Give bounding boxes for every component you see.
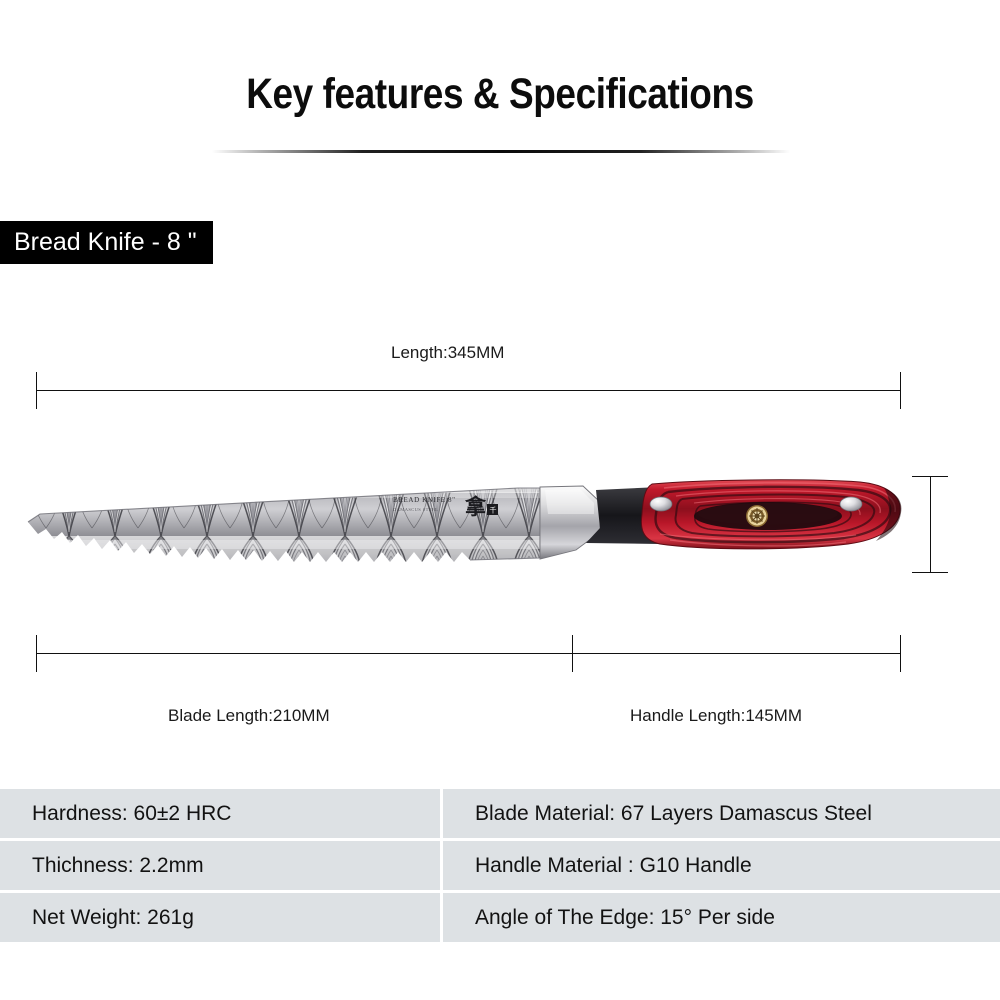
knife-illustration: BREAD KNIFE 8" DAMASCUS STEEL 拿 千: [0, 440, 1000, 620]
handle-rivet-front: [650, 497, 672, 511]
total-length-tick-right: [900, 372, 901, 409]
total-length-dimension-line: [36, 390, 900, 391]
spec-row-hardness: Hardness: 60±2 HRC: [0, 789, 440, 838]
spec-row-thickness: Thichness: 2.2mm: [0, 841, 440, 890]
title-divider: [212, 150, 790, 153]
blade-length-tick-left: [36, 635, 37, 672]
specifications-column-right: Blade Material: 67 Layers Damascus Steel…: [443, 789, 1000, 942]
knife-bolster: [540, 486, 600, 559]
knife-blade: [20, 480, 550, 572]
product-name-badge: Bread Knife - 8 ": [0, 221, 213, 264]
blade-handle-divider-tick: [572, 635, 573, 672]
specifications-column-left: Hardness: 60±2 HRC Thichness: 2.2mm Net …: [0, 789, 440, 942]
blade-width-dimension-line: [930, 476, 931, 572]
spec-row-handle-material: Handle Material : G10 Handle: [443, 841, 1000, 890]
total-length-label: Length:345MM: [391, 343, 504, 363]
handle-mosaic-pin: [746, 505, 768, 527]
blade-length-label: Blade Length:210MM: [168, 706, 330, 726]
blade-width-label: Blade width 36MM: [938, 472, 1000, 595]
handle-length-tick-right: [900, 635, 901, 672]
bottom-dimension-line: [36, 653, 900, 654]
total-length-tick-left: [36, 372, 37, 409]
page-header: Key features & Specifications: [0, 72, 1000, 117]
brand-logo-mark-glyph: 千: [490, 506, 497, 515]
blade-etching-text: BREAD KNIFE 8": [393, 496, 456, 504]
brand-logo-glyph: 拿: [464, 495, 487, 519]
knife-handle: [641, 480, 901, 549]
page-title: Key features & Specifications: [70, 72, 930, 117]
spec-row-net-weight: Net Weight: 261g: [0, 893, 440, 942]
spec-row-edge-angle: Angle of The Edge: 15° Per side: [443, 893, 1000, 942]
handle-length-label: Handle Length:145MM: [630, 706, 802, 726]
specifications-table: Hardness: 60±2 HRC Thichness: 2.2mm Net …: [0, 789, 1000, 942]
handle-rivet-rear: [840, 497, 862, 511]
spec-row-blade-material: Blade Material: 67 Layers Damascus Steel: [443, 789, 1000, 838]
blade-etching-subtext: DAMASCUS STEEL: [393, 507, 438, 512]
